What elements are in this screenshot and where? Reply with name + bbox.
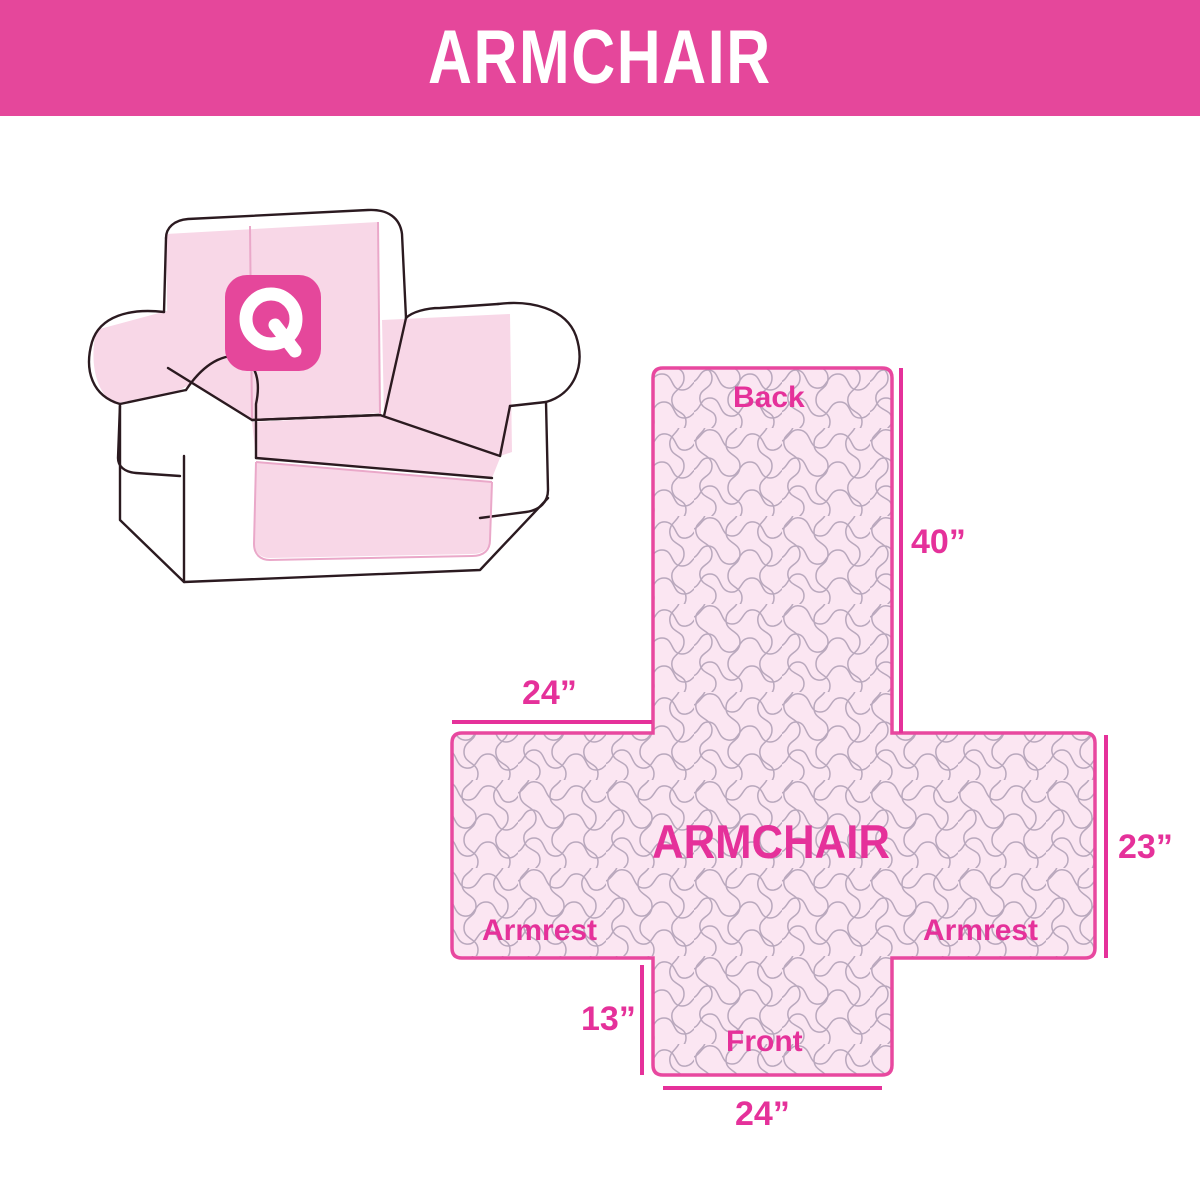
dimension-label-seat-depth: 23” [1118, 830, 1173, 864]
panel-label-armrest-right: Armrest [923, 916, 1038, 946]
dimension-label-front-drop: 13” [581, 1002, 636, 1036]
page-title: ARMCHAIR [428, 20, 772, 96]
cross-fabric-fill [430, 340, 1200, 1140]
content-area: 40” 24” 23” 13” 24” Back Armrest Armrest… [0, 116, 1200, 1200]
dimension-label-armrest-width: 24” [522, 676, 577, 710]
panel-label-front: Front [726, 1027, 803, 1057]
panel-label-back: Back [733, 383, 805, 413]
dimension-label-back-height: 40” [911, 525, 966, 559]
cross-panel-shape [430, 340, 1200, 1140]
panel-label-armrest-left: Armrest [482, 916, 597, 946]
pattern-center-label: ARMCHAIR [652, 818, 890, 865]
header-banner: ARMCHAIR [0, 0, 1200, 116]
flat-pattern-diagram: 40” 24” 23” 13” 24” Back Armrest Armrest… [430, 340, 1200, 1140]
back-left-edge [164, 238, 166, 312]
left-arm-front-face [118, 404, 180, 476]
q-logo-badge [225, 275, 321, 371]
dimension-label-front-width: 24” [735, 1097, 790, 1131]
